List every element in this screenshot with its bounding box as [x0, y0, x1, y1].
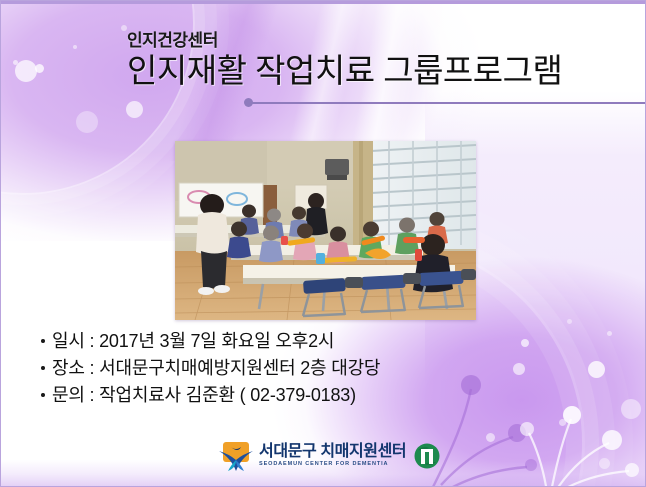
event-datetime: 일시 : 2017년 3월 7일 화요일 오후2시 — [52, 327, 334, 353]
event-venue: 장소 : 서대문구치매예방지원센터 2층 대강당 — [52, 354, 380, 380]
event-details-list: 일시 : 2017년 3월 7일 화요일 오후2시 장소 : 서대문구치매예방지… — [41, 327, 561, 408]
bokeh-dot — [35, 64, 44, 73]
background-arc-rings — [0, 0, 195, 195]
bokeh-dot — [567, 319, 572, 324]
top-border-rule — [1, 1, 646, 4]
green-circle-mark-icon — [413, 442, 441, 470]
list-item: 장소 : 서대문구치매예방지원센터 2층 대강당 — [41, 354, 561, 381]
logo-wordmark: 서대문구 치매지원센터 SEODAEMUN CENTER FOR DEMENTI… — [259, 444, 406, 468]
bokeh-dot — [588, 361, 605, 378]
slide-subtitle: 인지건강센터 — [127, 32, 637, 51]
title-underline-rule — [249, 102, 646, 104]
bokeh-dot — [126, 101, 143, 118]
event-contact: 문의 : 작업치료사 김준환 ( 02-379-0183) — [52, 381, 356, 407]
bullet-icon — [41, 339, 45, 343]
bokeh-dot — [607, 331, 612, 336]
footer-logo-lockup: 서대문구 치매지원센터 SEODAEMUN CENTER FOR DEMENTI… — [219, 441, 441, 471]
bokeh-dot — [486, 433, 495, 442]
presentation-slide: 인지건강센터 인지재활 작업치료 그룹프로그램 — [0, 0, 646, 487]
logo-english-name: SEODAEMUN CENTER FOR DEMENTIA — [259, 462, 406, 468]
logo-korean-name: 서대문구 치매지원센터 — [259, 444, 406, 460]
bullet-icon — [41, 366, 45, 370]
bokeh-dot — [599, 458, 610, 469]
bokeh-dot — [13, 60, 18, 65]
bullet-icon — [41, 393, 45, 397]
bokeh-dot — [621, 399, 641, 419]
title-block: 인지건강센터 인지재활 작업치료 그룹프로그램 — [127, 32, 637, 91]
bokeh-dot — [559, 419, 566, 426]
program-photo — [175, 141, 476, 320]
list-item: 문의 : 작업치료사 김준환 ( 02-379-0183) — [41, 381, 561, 408]
classroom-photo-illustration — [175, 141, 476, 320]
slide-title: 인지재활 작업치료 그룹프로그램 — [127, 52, 637, 91]
list-item: 일시 : 2017년 3월 7일 화요일 오후2시 — [41, 327, 561, 354]
bokeh-dot — [73, 45, 77, 49]
seodaemun-bird-mark-icon — [219, 441, 253, 471]
bokeh-dot — [15, 60, 37, 82]
bokeh-dot — [76, 111, 98, 133]
